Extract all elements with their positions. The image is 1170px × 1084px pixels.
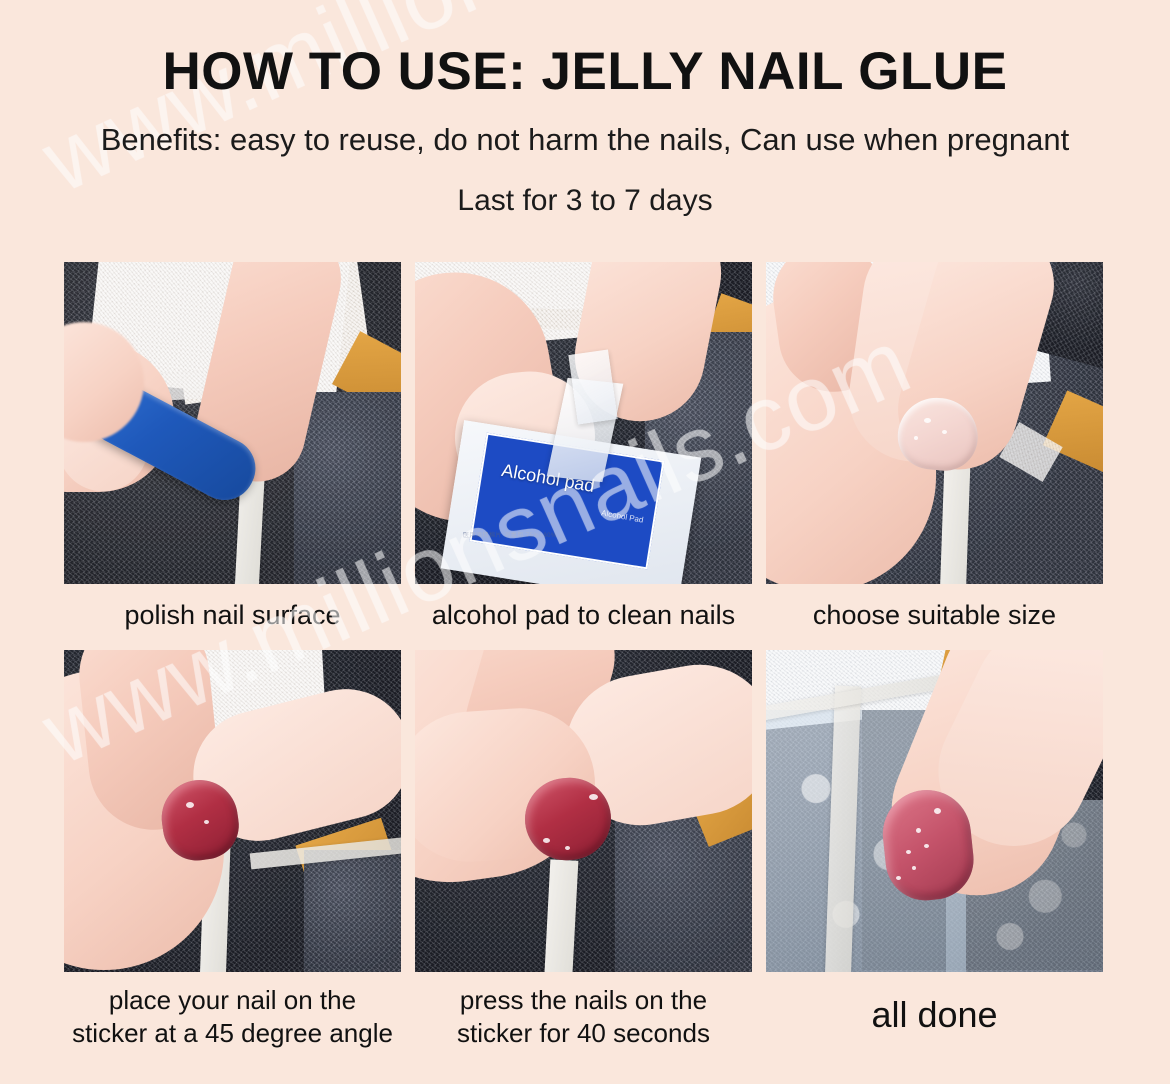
step-caption-4-line2: sticker at a 45 degree angle — [72, 1018, 393, 1048]
steps-grid: polish nail surface Alcohol pad Alcohol … — [64, 262, 1103, 1051]
step-cell-3: choose suitable size — [766, 262, 1103, 650]
step-cell-4: place your nail on the sticker at a 45 d… — [64, 650, 401, 1051]
step-caption-5: press the nails on the sticker for 40 se… — [415, 972, 752, 1051]
step-photo-press-nails — [415, 650, 752, 972]
step-cell-5: press the nails on the sticker for 40 se… — [415, 650, 752, 1051]
step-photo-alcohol-pad: Alcohol pad Alcohol Pad 医用酒精棉片 消毒用 75%~8… — [415, 262, 752, 584]
step-photo-polish-nail-surface — [64, 262, 401, 584]
step-caption-4: place your nail on the sticker at a 45 d… — [64, 972, 401, 1051]
step-caption-6: all done — [766, 972, 1103, 1038]
step-caption-5-line2: sticker for 40 seconds — [457, 1018, 710, 1048]
step-caption-1: polish nail surface — [64, 584, 401, 650]
step-cell-1: polish nail surface — [64, 262, 401, 650]
step-caption-5-line1: press the nails on the — [460, 985, 707, 1015]
step-caption-4-line1: place your nail on the — [109, 985, 356, 1015]
page-title: HOW TO USE: JELLY NAIL GLUE — [0, 44, 1170, 100]
step-cell-2: Alcohol pad Alcohol Pad 医用酒精棉片 消毒用 75%~8… — [415, 262, 752, 650]
step-photo-choose-size — [766, 262, 1103, 584]
step-caption-2: alcohol pad to clean nails — [415, 584, 752, 650]
benefits-line: Benefits: easy to reuse, do not harm the… — [0, 122, 1170, 158]
step-photo-place-nail — [64, 650, 401, 972]
step-photo-all-done — [766, 650, 1103, 972]
step-cell-6: all done — [766, 650, 1103, 1051]
duration-line: Last for 3 to 7 days — [0, 184, 1170, 218]
page-header: HOW TO USE: JELLY NAIL GLUE Benefits: ea… — [0, 0, 1170, 218]
step-caption-3: choose suitable size — [766, 584, 1103, 650]
